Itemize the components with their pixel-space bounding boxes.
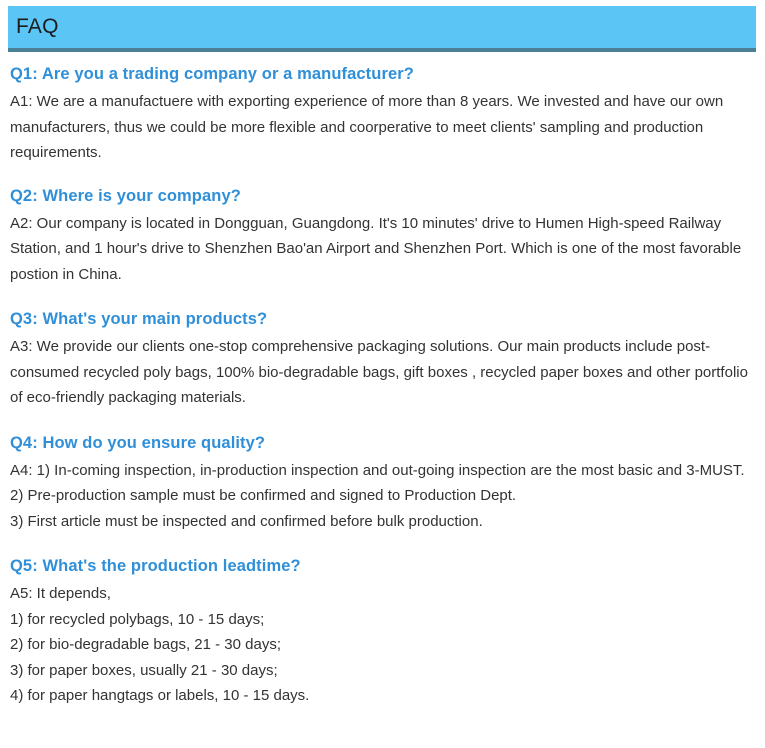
faq-banner: FAQ: [8, 6, 756, 52]
faq-answer-5-line-5: 4) for paper hangtags or labels, 10 - 15…: [10, 683, 751, 709]
faq-answer-5-line-1: A5: It depends,: [10, 581, 751, 607]
faq-answer-2: A2: Our company is located in Dongguan, …: [10, 211, 751, 288]
faq-item-4: Q4: How do you ensure quality? A4: 1) In…: [0, 431, 765, 535]
faq-answer-5: A5: It depends, 1) for recycled polybags…: [10, 581, 751, 709]
faq-content: Q1: Are you a trading company or a manuf…: [0, 62, 765, 709]
section-spacer: [0, 287, 765, 307]
faq-answer-4-line-1: A4: 1) In-coming inspection, in-producti…: [10, 458, 751, 484]
faq-item-5: Q5: What's the production leadtime? A5: …: [0, 554, 765, 709]
faq-answer-4-line-2: 2) Pre-production sample must be confirm…: [10, 483, 751, 509]
faq-answer-1: A1: We are a manufactuere with exporting…: [10, 89, 751, 166]
faq-answer-5-line-3: 2) for bio-degradable bags, 21 - 30 days…: [10, 632, 751, 658]
faq-answer-4: A4: 1) In-coming inspection, in-producti…: [10, 458, 751, 535]
faq-page: FAQ Q1: Are you a trading company or a m…: [0, 0, 765, 748]
faq-item-3: Q3: What's your main products? A3: We pr…: [0, 307, 765, 411]
faq-question-3: Q3: What's your main products?: [10, 307, 751, 331]
faq-answer-5-line-2: 1) for recycled polybags, 10 - 15 days;: [10, 607, 751, 633]
page-title: FAQ: [16, 13, 59, 41]
faq-item-1: Q1: Are you a trading company or a manuf…: [0, 62, 765, 166]
section-spacer: [0, 166, 765, 184]
section-spacer: [0, 411, 765, 431]
faq-question-2: Q2: Where is your company?: [10, 184, 751, 208]
faq-item-2: Q2: Where is your company? A2: Our compa…: [0, 184, 765, 288]
faq-question-5: Q5: What's the production leadtime?: [10, 554, 751, 578]
faq-answer-3: A3: We provide our clients one-stop comp…: [10, 334, 751, 411]
faq-question-4: Q4: How do you ensure quality?: [10, 431, 751, 455]
faq-answer-4-line-3: 3) First article must be inspected and c…: [10, 509, 751, 535]
faq-question-1: Q1: Are you a trading company or a manuf…: [10, 62, 751, 86]
faq-answer-5-line-4: 3) for paper boxes, usually 21 - 30 days…: [10, 658, 751, 684]
section-spacer: [0, 534, 765, 554]
